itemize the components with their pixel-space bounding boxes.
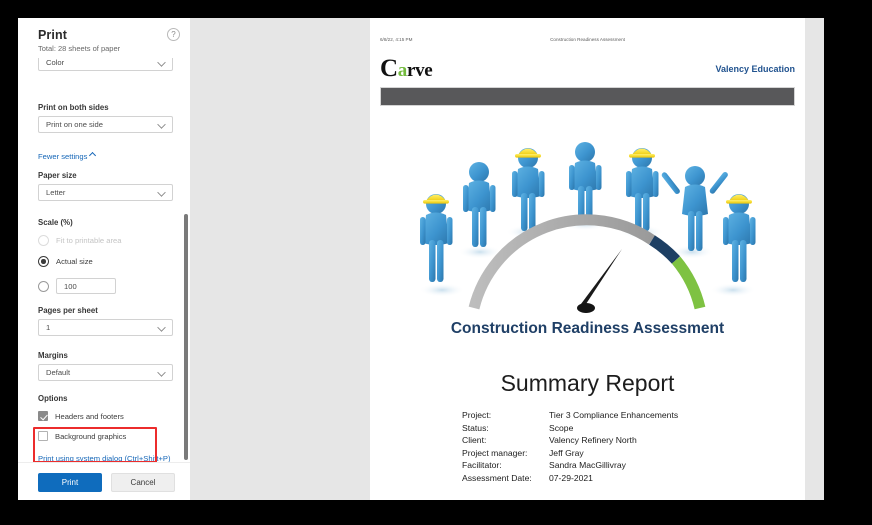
- color-select-value: Color: [46, 58, 64, 67]
- paper-size-select-value: Letter: [46, 188, 65, 197]
- both-sides-select[interactable]: Print on one side: [38, 116, 173, 133]
- margins-select[interactable]: Default: [38, 364, 173, 381]
- logo-rest: rve: [407, 60, 432, 81]
- metadata-value: Jeff Gray: [549, 448, 678, 461]
- setting-margins: Margins Default: [38, 351, 173, 381]
- pages-per-sheet-value: 1: [46, 323, 50, 332]
- metadata-row: Project:Tier 3 Compliance Enhancements: [462, 410, 678, 423]
- metadata-key: Client:: [462, 435, 549, 448]
- logo-accent-letter: a: [398, 60, 407, 81]
- metadata-value: Valency Refinery North: [549, 435, 678, 448]
- chevron-up-icon: [89, 152, 96, 159]
- fewer-settings-label: Fewer settings: [38, 152, 87, 161]
- checkbox-icon: [38, 411, 48, 421]
- chevron-down-icon: [157, 188, 165, 196]
- metadata-key: Project:: [462, 410, 549, 423]
- print-button[interactable]: Print: [38, 473, 102, 492]
- document-header-bar: [380, 87, 795, 106]
- chevron-down-icon: [157, 323, 165, 331]
- print-preview-pane: 6/8/22, 4:15 PM Construction Readiness A…: [190, 18, 824, 500]
- setting-color: Color: [38, 58, 173, 71]
- both-sides-label: Print on both sides: [38, 103, 173, 112]
- metadata-value: 07-29-2021: [549, 473, 678, 486]
- background-graphics-label: Background graphics: [55, 432, 126, 441]
- print-dialog-panel: Print Total: 28 sheets of paper ? Color …: [18, 18, 190, 500]
- pages-per-sheet-label: Pages per sheet: [38, 306, 173, 315]
- radio-icon: [38, 235, 49, 246]
- print-dialog-header: Print Total: 28 sheets of paper ?: [18, 18, 190, 58]
- scale-label: Scale (%): [38, 218, 173, 227]
- options-section-label-wrap: Options: [38, 394, 67, 407]
- help-icon[interactable]: ?: [167, 28, 180, 41]
- metadata-row: Assessment Date:07-29-2021: [462, 473, 678, 486]
- scale-input[interactable]: [56, 278, 116, 294]
- radio-actual-size[interactable]: Actual size: [38, 256, 93, 267]
- metadata-key: Status:: [462, 423, 549, 436]
- paper-size-select[interactable]: Letter: [38, 184, 173, 201]
- print-dialog-footer: Print Cancel: [18, 462, 190, 500]
- metadata-key: Assessment Date:: [462, 473, 549, 486]
- metadata-value: Sandra MacGillivray: [549, 460, 678, 473]
- carve-logo: Carve: [380, 58, 432, 82]
- radio-fit-to-printable-area[interactable]: Fit to printable area: [38, 235, 121, 246]
- chevron-down-icon: [157, 58, 165, 66]
- fewer-settings-link[interactable]: Fewer settings: [38, 152, 95, 161]
- document-brand-row: Carve Valency Education: [380, 58, 795, 84]
- construction-readiness-gauge-people-icon: [400, 136, 775, 316]
- cancel-button[interactable]: Cancel: [111, 473, 175, 492]
- panel-scrollbar[interactable]: [184, 214, 188, 460]
- radio-actual-label: Actual size: [56, 257, 93, 266]
- document-metadata-table: Project:Tier 3 Compliance EnhancementsSt…: [462, 410, 678, 486]
- setting-pages-per-sheet: Pages per sheet 1: [38, 306, 173, 336]
- brand-right-text: Valency Education: [715, 64, 795, 74]
- setting-scale-label-wrap: Scale (%): [38, 218, 173, 231]
- checkbox-background-graphics[interactable]: Background graphics: [38, 431, 126, 441]
- browser-content-area: Print Total: 28 sheets of paper ? Color …: [18, 18, 824, 500]
- metadata-value: Tier 3 Compliance Enhancements: [549, 410, 678, 423]
- setting-both-sides: Print on both sides Print on one side: [38, 103, 173, 133]
- document-subtitle: Summary Report: [370, 370, 805, 397]
- metadata-key: Facilitator:: [462, 460, 549, 473]
- paper-size-label: Paper size: [38, 171, 173, 180]
- color-select[interactable]: Color: [38, 58, 173, 71]
- checkbox-icon: [38, 431, 48, 441]
- print-system-dialog-link[interactable]: Print using system dialog (Ctrl+Shift+P): [38, 454, 171, 462]
- sheet-total-text: Total: 28 sheets of paper: [38, 44, 120, 53]
- checkbox-headers-and-footers[interactable]: Headers and footers: [38, 411, 124, 421]
- setting-paper-size: Paper size Letter: [38, 171, 173, 201]
- metadata-row: Project manager:Jeff Gray: [462, 448, 678, 461]
- preview-page: 6/8/22, 4:15 PM Construction Readiness A…: [370, 18, 805, 500]
- running-head-title: Construction Readiness Assessment: [370, 37, 805, 42]
- options-label: Options: [38, 394, 67, 403]
- radio-icon: [38, 256, 49, 267]
- radio-icon: [38, 281, 49, 292]
- both-sides-select-value: Print on one side: [46, 120, 103, 129]
- document-title: Construction Readiness Assessment: [370, 320, 805, 338]
- metadata-key: Project manager:: [462, 448, 549, 461]
- chevron-down-icon: [157, 120, 165, 128]
- page-title: Print: [38, 28, 67, 42]
- margins-select-value: Default: [46, 368, 70, 377]
- logo-initial: C: [380, 55, 398, 82]
- metadata-value: Scope: [549, 423, 678, 436]
- radio-custom-scale[interactable]: [38, 278, 116, 294]
- metadata-row: Client:Valency Refinery North: [462, 435, 678, 448]
- print-settings-list: Color Print on both sides Print on one s…: [18, 58, 190, 462]
- metadata-row: Facilitator:Sandra MacGillivray: [462, 460, 678, 473]
- chevron-down-icon: [157, 368, 165, 376]
- margins-label: Margins: [38, 351, 173, 360]
- screenshot-root: Print Total: 28 sheets of paper ? Color …: [0, 0, 872, 525]
- radio-fit-label: Fit to printable area: [56, 236, 121, 245]
- headers-footers-label: Headers and footers: [55, 412, 124, 421]
- pages-per-sheet-select[interactable]: 1: [38, 319, 173, 336]
- metadata-row: Status:Scope: [462, 423, 678, 436]
